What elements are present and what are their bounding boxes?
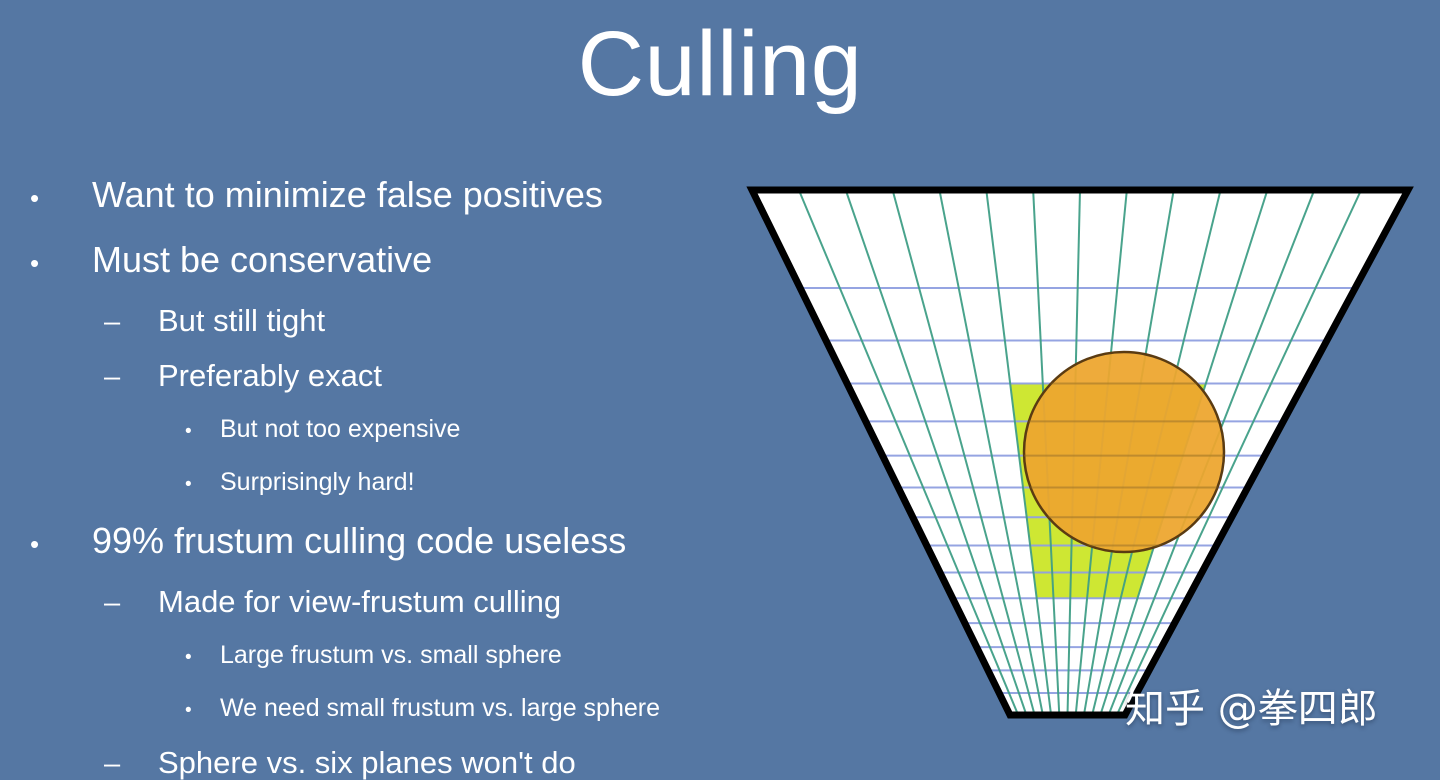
dash-marker-icon: – xyxy=(104,295,158,349)
bullet-marker-icon: • xyxy=(30,168,92,229)
list-item: • Want to minimize false positives xyxy=(0,164,760,229)
list-item: • Surprisingly hard! xyxy=(0,457,760,510)
list-item-label: Large frustum vs. small sphere xyxy=(220,630,562,680)
list-item-label: Sphere vs. six planes won't do xyxy=(158,736,576,780)
dash-marker-icon: – xyxy=(104,350,158,404)
list-item: • 99% frustum culling code useless xyxy=(0,510,760,575)
bullet-marker-icon: • xyxy=(30,233,92,294)
list-item: • We need small frustum vs. large sphere xyxy=(0,683,760,736)
list-item-label: Must be conservative xyxy=(92,229,432,290)
bullet-marker-icon: • xyxy=(185,633,220,683)
list-item-label: Surprisingly hard! xyxy=(220,457,415,507)
list-item-label: We need small frustum vs. large sphere xyxy=(220,683,660,733)
list-item: • But not too expensive xyxy=(0,404,760,457)
frustum-diagram xyxy=(735,175,1435,735)
bullet-marker-icon: • xyxy=(30,514,92,575)
list-item-label: Made for view-frustum culling xyxy=(158,575,561,629)
list-item-label: But still tight xyxy=(158,294,325,348)
dash-marker-icon: – xyxy=(104,737,158,780)
list-item-label: Want to minimize false positives xyxy=(92,164,603,225)
list-item-label: 99% frustum culling code useless xyxy=(92,510,626,571)
list-item-label: But not too expensive xyxy=(220,404,460,454)
list-item: • Large frustum vs. small sphere xyxy=(0,630,760,683)
watermark: 知乎 @拳四郎 xyxy=(1125,684,1378,734)
bullet-marker-icon: • xyxy=(185,407,220,457)
list-item: – But still tight xyxy=(0,294,760,349)
list-item: • Must be conservative xyxy=(0,229,760,294)
bullet-list: • Want to minimize false positives • Mus… xyxy=(0,164,760,780)
list-item: – Preferably exact xyxy=(0,349,760,404)
page-title: Culling xyxy=(0,8,1440,120)
sphere-shape xyxy=(1024,352,1224,552)
bullet-marker-icon: • xyxy=(185,686,220,736)
bullet-marker-icon: • xyxy=(185,460,220,510)
list-item-label: Preferably exact xyxy=(158,349,382,403)
dash-marker-icon: – xyxy=(104,576,158,630)
list-item: – Made for view-frustum culling xyxy=(0,575,760,630)
slide: Culling • Want to minimize false positiv… xyxy=(0,0,1440,780)
frustum-svg xyxy=(735,175,1435,735)
list-item: – Sphere vs. six planes won't do xyxy=(0,736,760,780)
